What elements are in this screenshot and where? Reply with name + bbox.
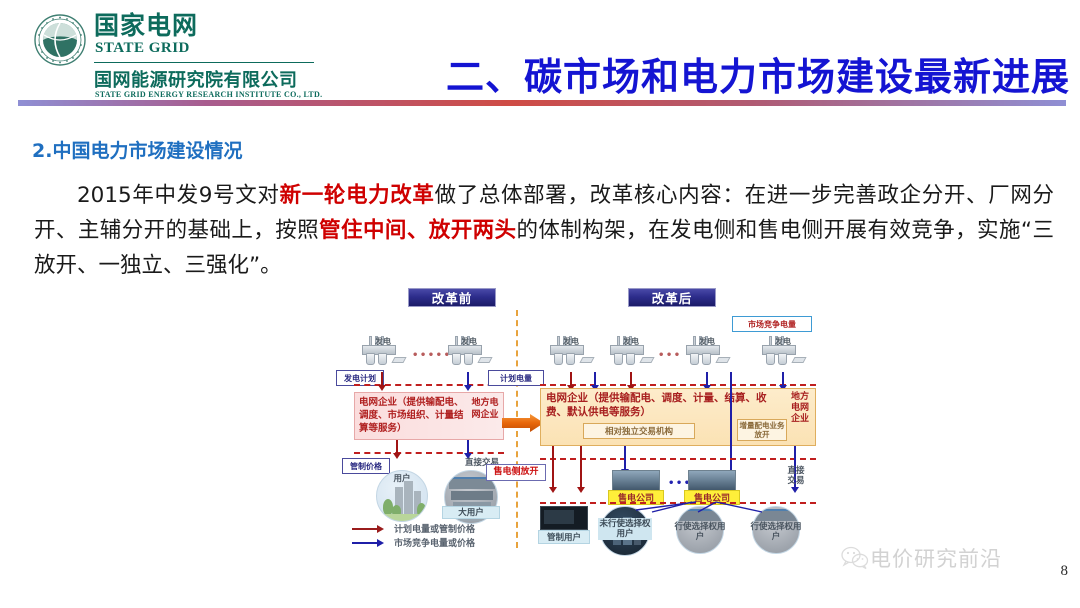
watermark: 电价研究前沿 [840, 543, 1040, 573]
label-market-energy: 市场竞争电量 [732, 316, 812, 332]
consumer-caption: 行使选择权用户 [750, 522, 802, 542]
paragraph-highlight-1: 新一轮电力改革 [280, 183, 435, 208]
market-line-through [730, 372, 732, 476]
banner-after-reform: 改革后 [628, 288, 716, 307]
arrow-planned [552, 446, 554, 488]
local-grid-company-before: 地方电网企业 [470, 397, 500, 421]
grid-company-box-before: 电网企业（提供输配电、调度、市场组织、计量结算等服务） 地方电网企业 [354, 392, 504, 440]
bus-line-planned [354, 384, 504, 386]
local-grid-company-after: 地方电网企业 [787, 392, 813, 425]
grid-company-box-after: 电网企业（提供输配电、调度、计量、结算、收费、默认供电等服务） 地方电网企业 相… [540, 388, 816, 446]
legend-arrow-planned [352, 528, 378, 530]
power-reform-diagram: 改革前 改革后 发电 ••••• 发电 发电计划 电网企业（提供输配电、调度、市… [336, 288, 836, 570]
slide-header: 国家电网 STATE GRID 国网能源研究院有限公司 STATE GRID E… [0, 0, 1080, 104]
logo-subtitle-cn: 国网能源研究院有限公司 [94, 66, 298, 92]
banner-before-reform: 改革前 [408, 288, 496, 307]
section-heading: 2.中国电力市场建设情况 [32, 136, 242, 163]
body-paragraph: 2015年中发9号文对新一轮电力改革做了总体部署，改革核心内容：在进一步完善政企… [34, 178, 1054, 283]
label-retail-side-open: 售电侧放开 [486, 464, 546, 481]
large-user-caption: 大用户 [442, 506, 500, 519]
label-planned-energy: 计划电量 [488, 370, 544, 386]
grid-company-services-after: 电网企业（提供输配电、调度、计量、结算、收费、默认供电等服务） [546, 391, 782, 419]
arrow-planned [381, 372, 383, 386]
plant-caption: 发电 [548, 336, 594, 347]
incremental-distribution-open-box: 增量配电业务放开 [737, 419, 787, 441]
arrow-market [467, 372, 469, 386]
arrow-market [594, 372, 596, 386]
label-regulated-price: 管制价格 [342, 458, 390, 474]
independent-trading-institution-box: 相对独立交易机构 [583, 423, 695, 439]
grid-company-services-before: 电网企业（提供输配电、调度、市场组织、计量结算等服务） [359, 396, 467, 435]
arrow-market [467, 440, 469, 454]
header-divider [18, 100, 1066, 106]
legend-label: 市场竞争电量或价格 [394, 536, 475, 549]
bus-line-planned [540, 384, 816, 386]
label-direct-trade-right-line2: 交易 [776, 476, 816, 486]
diagram-legend: 计划电量或管制价格 市场竞争电量或价格 [352, 522, 532, 550]
paragraph-part-1: 2015年中发9号文对 [77, 183, 280, 208]
arrow-planned [630, 372, 632, 386]
user-caption: 用户 [376, 474, 428, 484]
legend-label: 计划电量或管制价格 [394, 522, 475, 535]
transition-arrow-icon [502, 414, 544, 432]
plant-caption: 发电 [608, 336, 654, 347]
arrow-planned [570, 372, 572, 386]
regulated-user-box: 管制用户 [538, 530, 590, 544]
plant-caption: 发电 [446, 336, 492, 347]
watermark-text: 电价研究前沿 [870, 543, 1002, 573]
retail-company-photo [688, 470, 736, 492]
arrow-planned [396, 440, 398, 454]
page-title: 二、碳市场和电力市场建设最新进展 [446, 46, 1070, 101]
state-grid-emblem-icon [34, 14, 86, 66]
logo-divider [94, 62, 314, 63]
legend-arrow-market [352, 542, 378, 544]
label-direct-trade-right-line1: 直接 [776, 466, 816, 476]
plant-caption: 发电 [760, 336, 806, 347]
wechat-icon [840, 546, 870, 570]
consumer-caption: 行使选择权用户 [674, 522, 726, 542]
arrow-market [706, 372, 708, 386]
organization-logo: 国家电网 STATE GRID 国网能源研究院有限公司 STATE GRID E… [30, 8, 330, 98]
legend-item: 市场竞争电量或价格 [352, 536, 532, 550]
page-number: 8 [1061, 563, 1069, 580]
logo-name-en: STATE GRID [95, 40, 190, 57]
logo-name-cn: 国家电网 [94, 12, 198, 39]
arrow-market [624, 446, 626, 470]
paragraph-highlight-2: 管住中间、放开两头 [319, 218, 516, 243]
label-direct-trade-right: 直接 交易 [776, 466, 816, 486]
arrow-planned [580, 446, 582, 488]
plant-caption: 发电 [360, 336, 406, 347]
plant-caption: 发电 [684, 336, 730, 347]
arrow-market [782, 372, 784, 386]
retail-company-photo [612, 470, 660, 492]
regulated-user-photo [540, 506, 588, 530]
bus-line-planned-lower [354, 452, 504, 454]
retailer-consumer-links [586, 498, 816, 522]
legend-item: 计划电量或管制价格 [352, 522, 532, 536]
plant-ellipsis: ••• [658, 350, 682, 361]
logo-subtitle-en: STATE GRID ENERGY RESEARCH INSTITUTE CO.… [95, 90, 322, 99]
